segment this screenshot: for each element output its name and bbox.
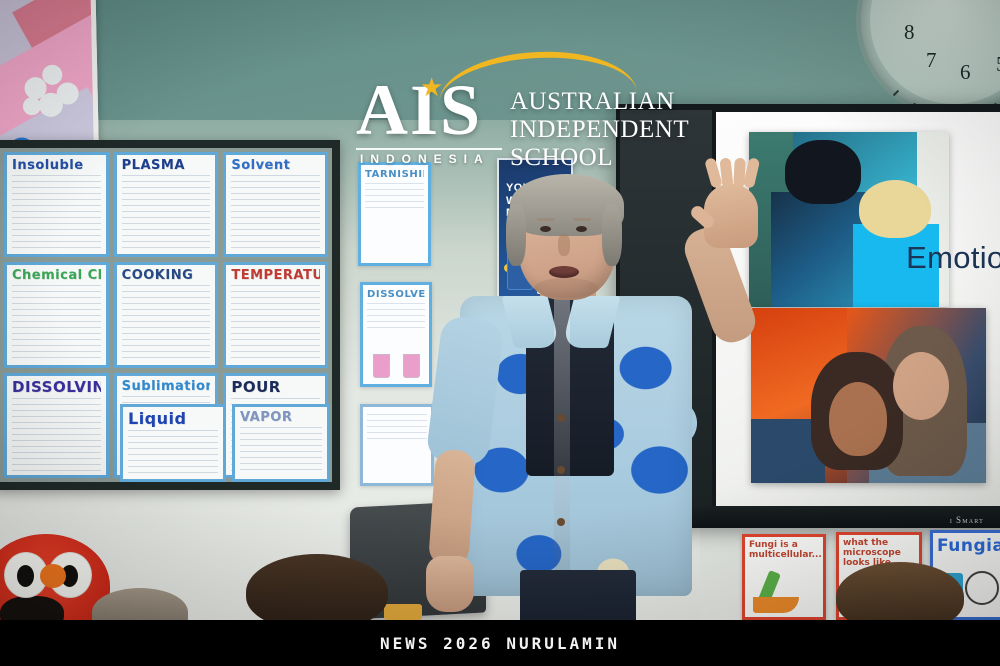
poster-vapor: VAPOR [232,404,330,482]
nose [558,234,570,256]
poster-title: PLASMA [122,159,211,172]
shirt-placket [554,296,570,596]
caption-text: NEWS 2026 NURULAMIN [380,634,620,653]
caption-bar: NEWS 2026 NURULAMIN [0,620,1000,666]
poster-body [12,175,101,250]
poster-title: DISSOLVING [12,380,101,395]
clock-number-8: 8 [904,20,915,45]
poster-body [231,285,320,360]
student-head-left [246,554,388,620]
clock-face: 8 7 6 5 [870,0,1000,104]
poster-liquid: Liquid [120,404,226,482]
slide-image-top [749,132,949,307]
poster-title: Solvent [231,159,320,172]
kid-poster-fungi: Fungi is a multicellular... [742,534,826,620]
clock-number-7: 7 [926,48,937,73]
lowered-hand [426,556,474,612]
poster-body [231,175,320,250]
poster-body [12,398,101,471]
classroom-photo: 8 7 6 5 Insoluble [0,0,1000,620]
poster-body [12,285,101,360]
poster-plasma: PLASMA [114,152,219,257]
poster-title: Fungia [937,537,1000,556]
eyebrow-right [573,218,591,221]
lowered-forearm [428,449,476,568]
poster-title: Sublimation [122,380,211,393]
smart-brand-logo: ıSmart [950,515,984,525]
hair-side-left [506,204,526,266]
poster-body [122,285,211,360]
elmo-nose [40,564,66,588]
poster-title: Chemical Change [12,269,101,282]
poster-body [240,427,322,475]
smart-brand-name: Smart [956,515,984,525]
clock-number-5: 5 [996,52,1000,77]
smart-brand-mark: ı [950,515,953,525]
chin-shadow [534,278,598,298]
poster-body [122,175,211,250]
shirt-button [557,414,565,422]
poster-title: TEMPERATURE [231,269,320,282]
hair-side-right [602,204,622,266]
teacher-figure [408,178,738,620]
smartboard-screen[interactable]: Emotion [716,112,1000,508]
poster-body [128,430,218,475]
petri-dish-icon [965,571,999,605]
trousers [520,570,636,620]
slide-image-bottom [751,308,986,483]
glass-icon [373,354,390,378]
eye-left [540,226,551,232]
poster-temperature: TEMPERATURE [223,262,328,367]
poster-cooking: COOKING [114,262,219,367]
poster-chemical-change: Chemical Change [4,262,109,367]
eyebrow-left [537,218,555,221]
elmo-pupil [17,565,34,587]
elmo-mouth [0,596,64,620]
poster-solvent: Solvent [223,152,328,257]
poster-title: Liquid [128,411,218,427]
poster-title: COOKING [122,269,211,282]
poster-title: POUR [231,380,320,395]
shirt-button [557,518,565,526]
poster-insoluble: Insoluble [4,152,109,257]
poster-title: Fungi is a multicellular... [749,541,819,561]
microscope-icon [753,569,801,613]
screenshot-root: 8 7 6 5 Insoluble [0,0,1000,666]
poster-title: VAPOR [240,411,322,424]
slide-title: Emotion [906,240,1000,276]
poster-title: Insoluble [12,159,101,172]
mouth [549,266,579,278]
eye-right [576,226,587,232]
poster-dissolving: DISSOLVING [4,373,109,478]
clock-number-6: 6 [960,60,971,85]
shirt-button [557,466,565,474]
